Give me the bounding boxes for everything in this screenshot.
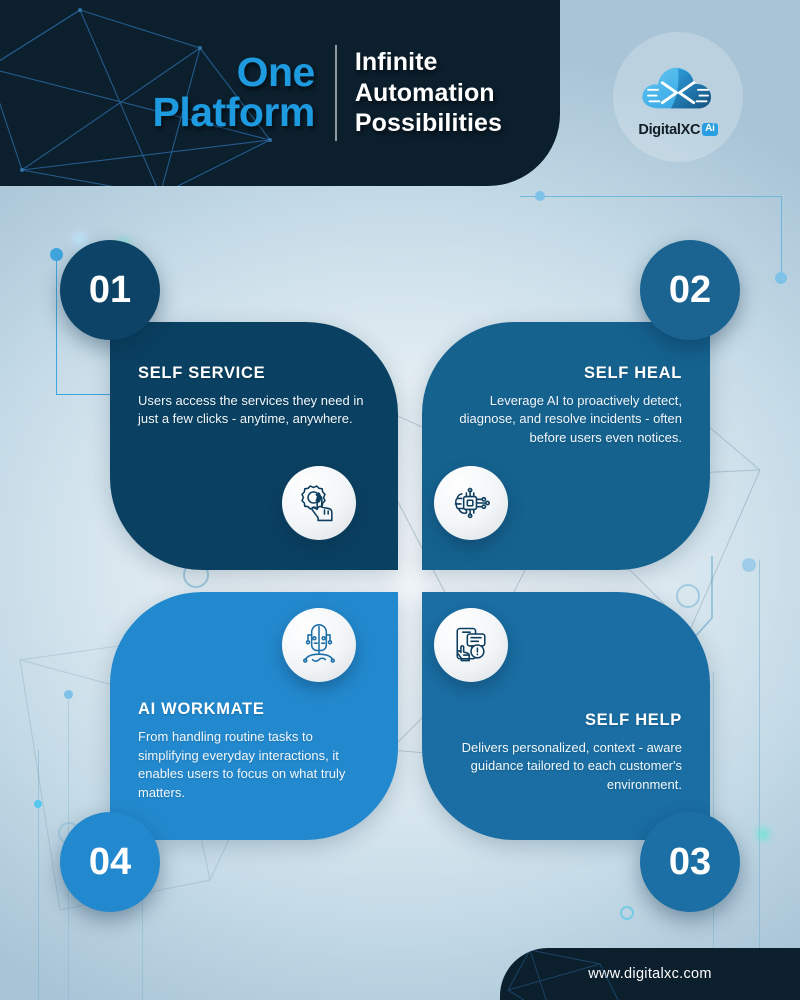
- circuit-node: [742, 558, 756, 572]
- card-body: Delivers personalized, context - aware g…: [448, 739, 682, 794]
- card-number-02: 02: [640, 240, 740, 340]
- card-title: SELF SERVICE: [138, 364, 372, 383]
- card-number-03: 03: [640, 812, 740, 912]
- card-number-01: 01: [60, 240, 160, 340]
- polygon-wireframe-icon: [500, 948, 640, 1000]
- subtitle-line-3: Possibilities: [355, 108, 502, 139]
- mobile-support-alert-icon: [449, 623, 493, 667]
- title-divider: [335, 45, 337, 141]
- card-body: Leverage AI to proactively detect, diagn…: [448, 392, 682, 447]
- card-title: SELF HEAL: [448, 364, 682, 383]
- card-title: AI WORKMATE: [138, 700, 372, 719]
- page-title-secondary: Infinite Automation Possibilities: [355, 47, 502, 139]
- circuit-line: [759, 560, 760, 960]
- circuit-node: [64, 690, 73, 699]
- circuit-node: [535, 191, 545, 201]
- hand-gear-icon: [297, 481, 341, 525]
- header-title-group: One Platform Infinite Automation Possibi…: [0, 0, 560, 186]
- icon-bubble-self-heal: [434, 466, 508, 540]
- icon-bubble-ai-workmate: [282, 608, 356, 682]
- brand-logo: DigitalXC Ai: [613, 32, 743, 162]
- card-self-service[interactable]: SELF SERVICE Users access the services t…: [110, 322, 398, 570]
- title-line-one: One: [153, 53, 315, 93]
- card-number-04: 04: [60, 812, 160, 912]
- circuit-node: [50, 248, 63, 261]
- subtitle-line-1: Infinite: [355, 47, 502, 78]
- circuit-node: [34, 800, 42, 808]
- icon-bubble-self-service: [282, 466, 356, 540]
- circuit-line: [781, 196, 782, 278]
- circuit-ring: [676, 584, 700, 608]
- ai-brain-chip-icon: [449, 481, 493, 525]
- title-line-platform: Platform: [153, 93, 315, 133]
- card-title: SELF HELP: [448, 711, 682, 730]
- ai-assistant-face-icon: [297, 623, 341, 667]
- cloud-x-logo-icon: [635, 57, 721, 117]
- subtitle-line-2: Automation: [355, 78, 502, 109]
- circuit-line: [520, 196, 782, 197]
- circuit-glow: [757, 828, 769, 840]
- icon-bubble-self-help: [434, 608, 508, 682]
- footer-bar: www.digitalxc.com: [500, 948, 800, 1000]
- circuit-ring: [620, 906, 634, 920]
- header-banner: One Platform Infinite Automation Possibi…: [0, 0, 560, 186]
- circuit-line: [56, 394, 114, 395]
- card-body: From handling routine tasks to simplifyi…: [138, 728, 372, 802]
- circuit-line: [56, 255, 57, 395]
- circuit-node: [775, 272, 787, 284]
- circuit-line: [38, 750, 39, 1000]
- card-ai-workmate[interactable]: AI WORKMATE From handling routine tasks …: [110, 592, 398, 840]
- logo-name: DigitalXC: [638, 122, 700, 138]
- page-title-primary: One Platform: [153, 53, 335, 133]
- logo-wordmark: DigitalXC Ai: [638, 122, 717, 138]
- card-body: Users access the services they need in j…: [138, 392, 372, 429]
- logo-ai-badge: Ai: [702, 123, 717, 136]
- infographic-poster: One Platform Infinite Automation Possibi…: [0, 0, 800, 1000]
